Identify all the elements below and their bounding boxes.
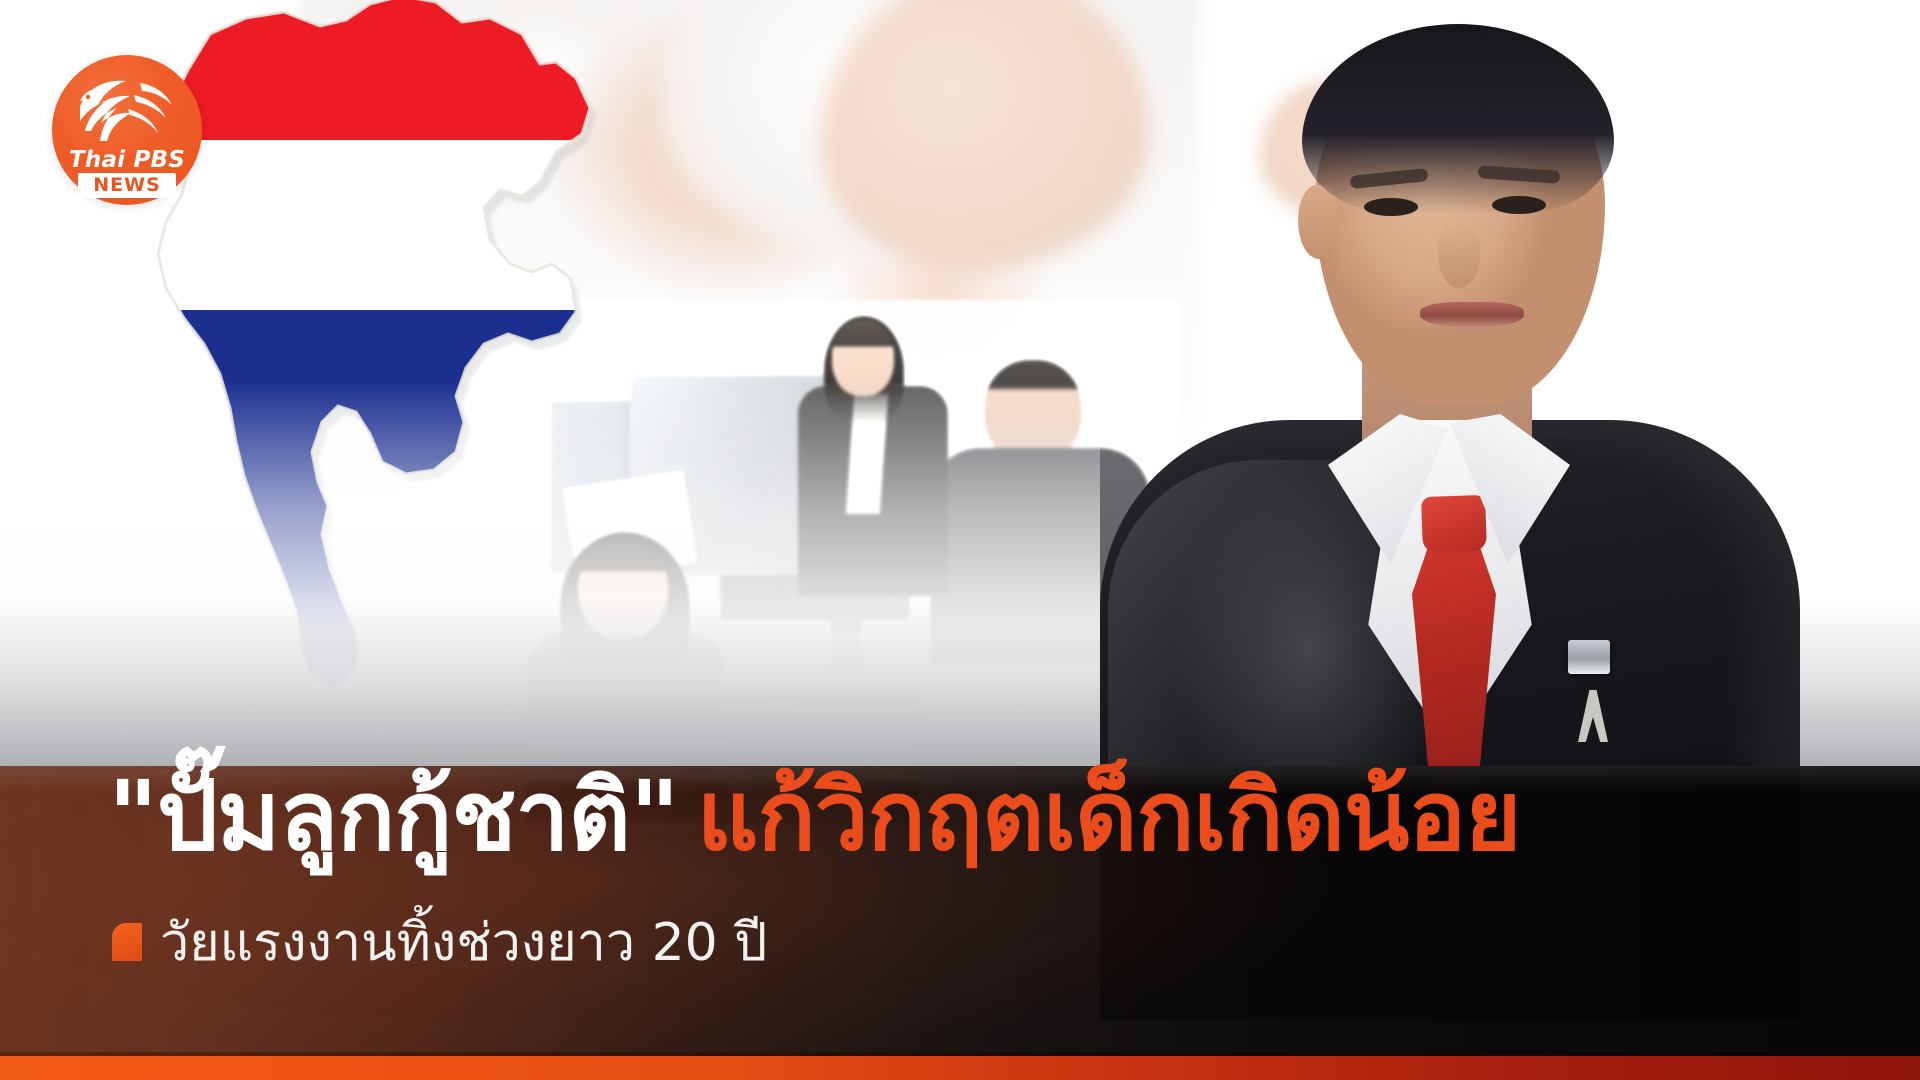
logo-brand-name: Thai PBS bbox=[52, 147, 202, 173]
headline-quoted-part: "ปั๊มลูกกู้ชาติ" bbox=[108, 760, 679, 872]
subheadline: วัยแรงงานทิ้งช่วงยาว 20 ปี bbox=[112, 900, 767, 983]
lapel-pin bbox=[1568, 640, 1610, 674]
headline-highlight-part: แก้วิกฤตเด็กเกิดน้อย bbox=[697, 760, 1521, 872]
bottom-gradient-bar bbox=[0, 1056, 1920, 1080]
thai-pbs-logo[interactable]: Thai PBS NEWS bbox=[52, 55, 202, 205]
hair bbox=[1302, 24, 1614, 214]
necktie-knot bbox=[1421, 495, 1487, 553]
thai-pbs-bird-icon bbox=[74, 71, 180, 147]
eye-left bbox=[1364, 198, 1418, 216]
mouth bbox=[1420, 302, 1524, 328]
orange-quarter-bullet-icon bbox=[112, 923, 142, 961]
subheadline-text: วัยแรงงานทิ้งช่วงยาว 20 ปี bbox=[160, 900, 767, 983]
ear bbox=[1298, 185, 1338, 259]
eye-right bbox=[1492, 196, 1546, 214]
news-cover-image: "ปั๊มลูกกู้ชาติ"แก้วิกฤตเด็กเกิดน้อย วัย… bbox=[0, 0, 1920, 1080]
page-title: "ปั๊มลูกกู้ชาติ"แก้วิกฤตเด็กเกิดน้อย bbox=[108, 768, 1908, 864]
nose bbox=[1438, 222, 1480, 288]
logo-news-label: NEWS bbox=[78, 173, 176, 198]
